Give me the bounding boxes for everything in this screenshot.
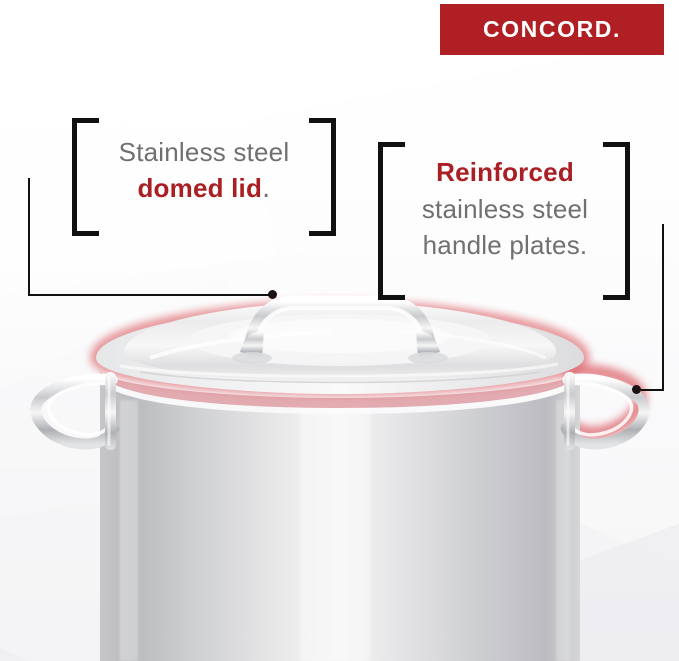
bracket-left-stem <box>72 118 77 236</box>
bracket-left-stem <box>378 142 383 300</box>
callout-period: . <box>262 174 270 204</box>
bracket-right-stem <box>625 142 630 300</box>
callout-text-handle-plates: Reinforced stainless steel handle plates… <box>390 154 620 263</box>
pot-body-highlight <box>120 400 138 661</box>
callout-emphasis: Reinforced <box>436 157 574 187</box>
pointer-dot-handle <box>632 385 641 394</box>
callout-text-domed-lid: Stainless steel domed lid. <box>90 134 318 207</box>
infographic-canvas: CONCORD. <box>0 0 679 661</box>
leader-line-handle-vertical <box>662 224 664 391</box>
callout-line-1: Reinforced <box>390 154 620 191</box>
callout-handle-plates: Reinforced stainless steel handle plates… <box>378 142 630 300</box>
bracket-left-top-arm <box>72 118 99 123</box>
bracket-right-bottom-arm <box>603 295 630 300</box>
leader-line-lid-horizontal <box>28 294 274 296</box>
pot-body-highlight <box>300 400 370 661</box>
callout-line-1: Stainless steel <box>90 134 318 170</box>
bracket-right-bottom-arm <box>309 231 336 236</box>
bracket-left-top-arm <box>378 142 405 147</box>
brand-logo: CONCORD. <box>440 4 664 55</box>
pointer-dot-lid <box>268 290 277 299</box>
bracket-right-top-arm <box>603 142 630 147</box>
bracket-left-bottom-arm <box>72 231 99 236</box>
leader-line-lid-vertical <box>28 178 30 296</box>
bracket-right-top-arm <box>309 118 336 123</box>
bracket-left-bottom-arm <box>378 295 405 300</box>
callout-emphasis: domed lid <box>137 173 262 203</box>
callout-line-2: domed lid. <box>90 170 318 207</box>
bracket-right-stem <box>331 118 336 236</box>
callout-line-3: handle plates. <box>390 227 620 263</box>
callout-line-2: stainless steel <box>390 191 620 227</box>
product-image-stock-pot <box>0 280 679 661</box>
callout-domed-lid: Stainless steel domed lid. <box>72 118 340 236</box>
brand-name: CONCORD. <box>483 16 621 43</box>
